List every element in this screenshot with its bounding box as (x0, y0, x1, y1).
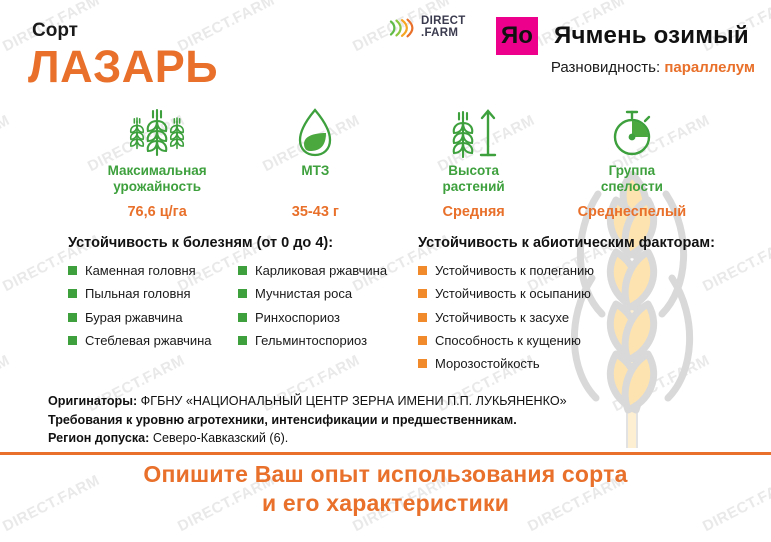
wheat-stalks-icon (125, 104, 189, 158)
bullet-square-icon (418, 359, 427, 368)
crop-type-badge: Яо (496, 17, 538, 55)
originators-label: Оригинаторы: (48, 394, 137, 408)
list-item: Карликовая ржавчина (238, 263, 387, 279)
direct-farm-logo[interactable]: DIRECT .FARM (388, 16, 466, 40)
bullet-square-icon (238, 289, 247, 298)
bullet-square-icon (418, 289, 427, 298)
stat-label: Группа спелости (601, 163, 663, 195)
page-title: ЛАЗАРЬ (28, 44, 218, 89)
diseases-block: Устойчивость к болезням (от 0 до 4): Кам… (0, 235, 408, 379)
list-item: Морозостойкость (418, 356, 771, 372)
list-item: Стеблевая ржавчина (68, 333, 238, 349)
originators-line-3: Регион допуска: Северо-Кавказский (6). (48, 429, 567, 448)
stopwatch-icon (607, 104, 657, 158)
list-item: Устойчивость к засухе (418, 310, 771, 326)
abiotic-list: Устойчивость к полеганиюУстойчивость к о… (418, 263, 771, 372)
list-item-label: Карликовая ржавчина (255, 263, 387, 279)
requirements-text: Требования к уровню агротехники, интенси… (48, 413, 517, 427)
list-item: Устойчивость к полеганию (418, 263, 771, 279)
variety-value: параллелум (664, 59, 755, 76)
list-item: Мучнистая роса (238, 286, 387, 302)
stat-value: Среднеспелый (578, 204, 687, 220)
variety-line: Разновидность: параллелум (551, 59, 755, 76)
plant-height-icon (446, 104, 502, 158)
list-item: Способность к кущению (418, 333, 771, 349)
abiotic-block: Устойчивость к абиотическим факторам: Ус… (408, 235, 771, 379)
infographic-page: DIRECT.FARMDIRECT.FARMDIRECT.FARMDIRECT.… (0, 0, 771, 542)
bullet-square-icon (238, 313, 247, 322)
list-item: Ринхоспориоз (238, 310, 387, 326)
bullet-square-icon (68, 313, 77, 322)
footer-line-1: Опишите Ваш опыт использования сорта (0, 460, 771, 489)
logo-wordmark: DIRECT .FARM (421, 16, 466, 40)
bullet-square-icon (68, 289, 77, 298)
list-item-label: Способность к кущению (435, 333, 581, 349)
header: Сорт ЛАЗАРЬ DIRECT .FARM Яо Ячмень о (0, 0, 771, 104)
stat-label: Максимальная урожайность (108, 163, 207, 195)
seed-drop-icon (295, 104, 335, 158)
list-item-label: Морозостойкость (435, 356, 540, 372)
list-item: Каменная головня (68, 263, 238, 279)
list-item-label: Каменная головня (85, 263, 196, 279)
list-item-label: Стеблевая ржавчина (85, 333, 212, 349)
abiotic-title: Устойчивость к абиотическим факторам: (418, 235, 771, 251)
sort-label: Сорт (32, 20, 78, 42)
region-value: Северо-Кавказский (6). (153, 431, 288, 445)
chevron-waves-icon (388, 16, 416, 40)
stat-label-line-1: МТЗ (301, 163, 329, 179)
bullet-square-icon (418, 336, 427, 345)
stat-thousand-grain-weight: МТЗ 35-43 г (236, 104, 394, 229)
stats-row: Максимальная урожайность 76,6 ц/га МТЗ 3… (0, 104, 771, 229)
list-item: Гельминтоспориоз (238, 333, 387, 349)
originators-line-2: Требования к уровню агротехники, интенси… (48, 411, 567, 430)
diseases-column-1: Каменная головняПыльная головняБурая ржа… (68, 263, 238, 356)
bullet-square-icon (418, 266, 427, 275)
stat-value: 35-43 г (292, 204, 339, 220)
list-item-label: Пыльная головня (85, 286, 191, 302)
list-item-label: Мучнистая роса (255, 286, 352, 302)
originators-line-1: Оригинаторы: ФГБНУ «НАЦИОНАЛЬНЫЙ ЦЕНТР З… (48, 392, 567, 411)
list-item-label: Устойчивость к осыпанию (435, 286, 591, 302)
list-item-label: Устойчивость к засухе (435, 310, 569, 326)
stat-label: Высота растений (443, 163, 505, 195)
stat-label-line-2: растений (443, 179, 505, 195)
logo-line-2: .FARM (421, 28, 466, 40)
footer-line-2: и его характеристики (0, 489, 771, 518)
list-item-label: Гельминтоспориоз (255, 333, 367, 349)
list-item-label: Ринхоспориоз (255, 310, 340, 326)
list-item: Устойчивость к осыпанию (418, 286, 771, 302)
stat-value: Средняя (442, 204, 504, 220)
stat-ripeness-group: Группа спелости Среднеспелый (553, 104, 711, 229)
stat-label-line-2: спелости (601, 179, 663, 195)
variety-label: Разновидность: (551, 59, 660, 76)
stat-value: 76,6 ц/га (127, 204, 186, 220)
crop-title: Ячмень озимый (554, 22, 749, 50)
list-item: Бурая ржавчина (68, 310, 238, 326)
stat-label: МТЗ (301, 163, 329, 179)
stat-label-line-1: Высота (443, 163, 505, 179)
diseases-column-2: Карликовая ржавчинаМучнистая росаРинхосп… (238, 263, 387, 356)
footer-call-to-action: Опишите Ваш опыт использования сорта и е… (0, 460, 771, 519)
originators-block: Оригинаторы: ФГБНУ «НАЦИОНАЛЬНЫЙ ЦЕНТР З… (48, 392, 567, 448)
diseases-title: Устойчивость к болезням (от 0 до 4): (68, 235, 408, 251)
stat-max-yield: Максимальная урожайность 76,6 ц/га (78, 104, 236, 229)
bullet-square-icon (238, 266, 247, 275)
list-item-label: Устойчивость к полеганию (435, 263, 594, 279)
stat-label-line-1: Максимальная (108, 163, 207, 179)
list-item-label: Бурая ржавчина (85, 310, 183, 326)
diseases-lists: Каменная головняПыльная головняБурая ржа… (68, 263, 408, 356)
bullet-square-icon (238, 336, 247, 345)
region-label: Регион допуска: (48, 431, 149, 445)
resistance-section: Устойчивость к болезням (от 0 до 4): Кам… (0, 229, 771, 379)
bullet-square-icon (418, 313, 427, 322)
originators-value: ФГБНУ «НАЦИОНАЛЬНЫЙ ЦЕНТР ЗЕРНА ИМЕНИ П.… (141, 394, 567, 408)
bullet-square-icon (68, 336, 77, 345)
stat-label-line-2: урожайность (108, 179, 207, 195)
footer-divider (0, 452, 771, 455)
stat-plant-height: Высота растений Средняя (395, 104, 553, 229)
stat-label-line-1: Группа (601, 163, 663, 179)
bullet-square-icon (68, 266, 77, 275)
list-item: Пыльная головня (68, 286, 238, 302)
